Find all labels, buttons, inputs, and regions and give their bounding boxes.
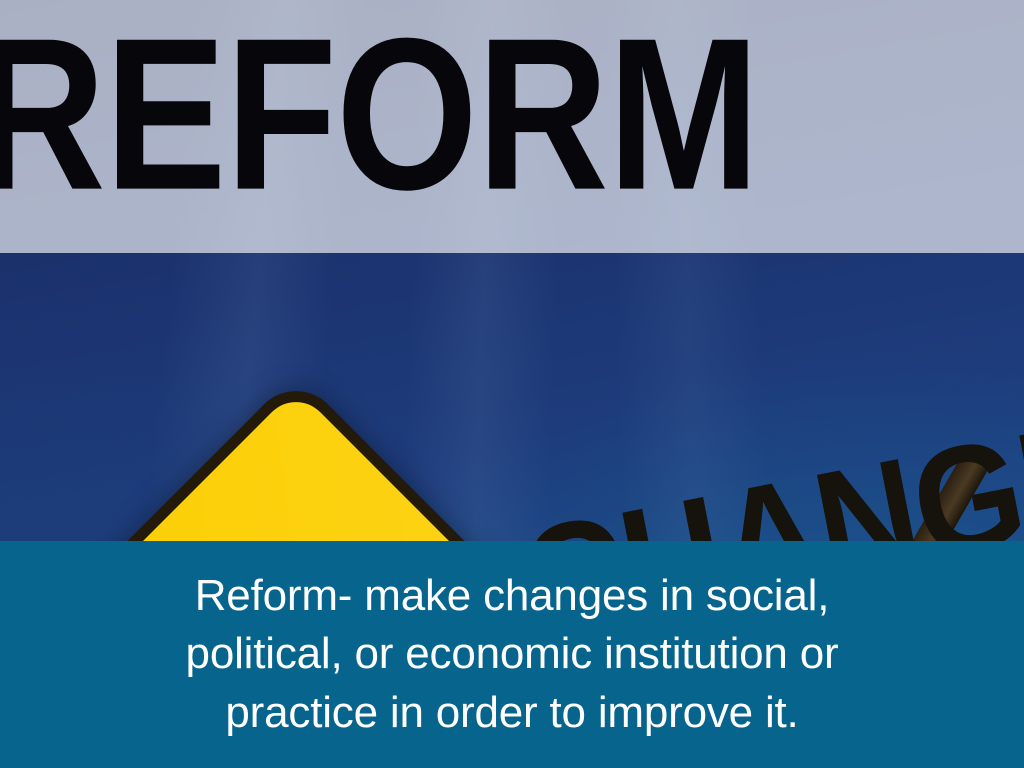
slide-canvas: CHANGE AHEAD REFORM Reform- make changes… bbox=[0, 0, 1024, 768]
page-title: REFORM bbox=[0, 6, 759, 222]
caption-line-3: practice in order to improve it. bbox=[26, 684, 998, 743]
caption-line-1: Reform- make changes in social, bbox=[26, 567, 998, 626]
caption-line-2: political, or economic institution or bbox=[26, 625, 998, 684]
caption-band: Reform- make changes in social, politica… bbox=[0, 541, 1024, 768]
caption-text: Reform- make changes in social, politica… bbox=[0, 567, 1024, 743]
